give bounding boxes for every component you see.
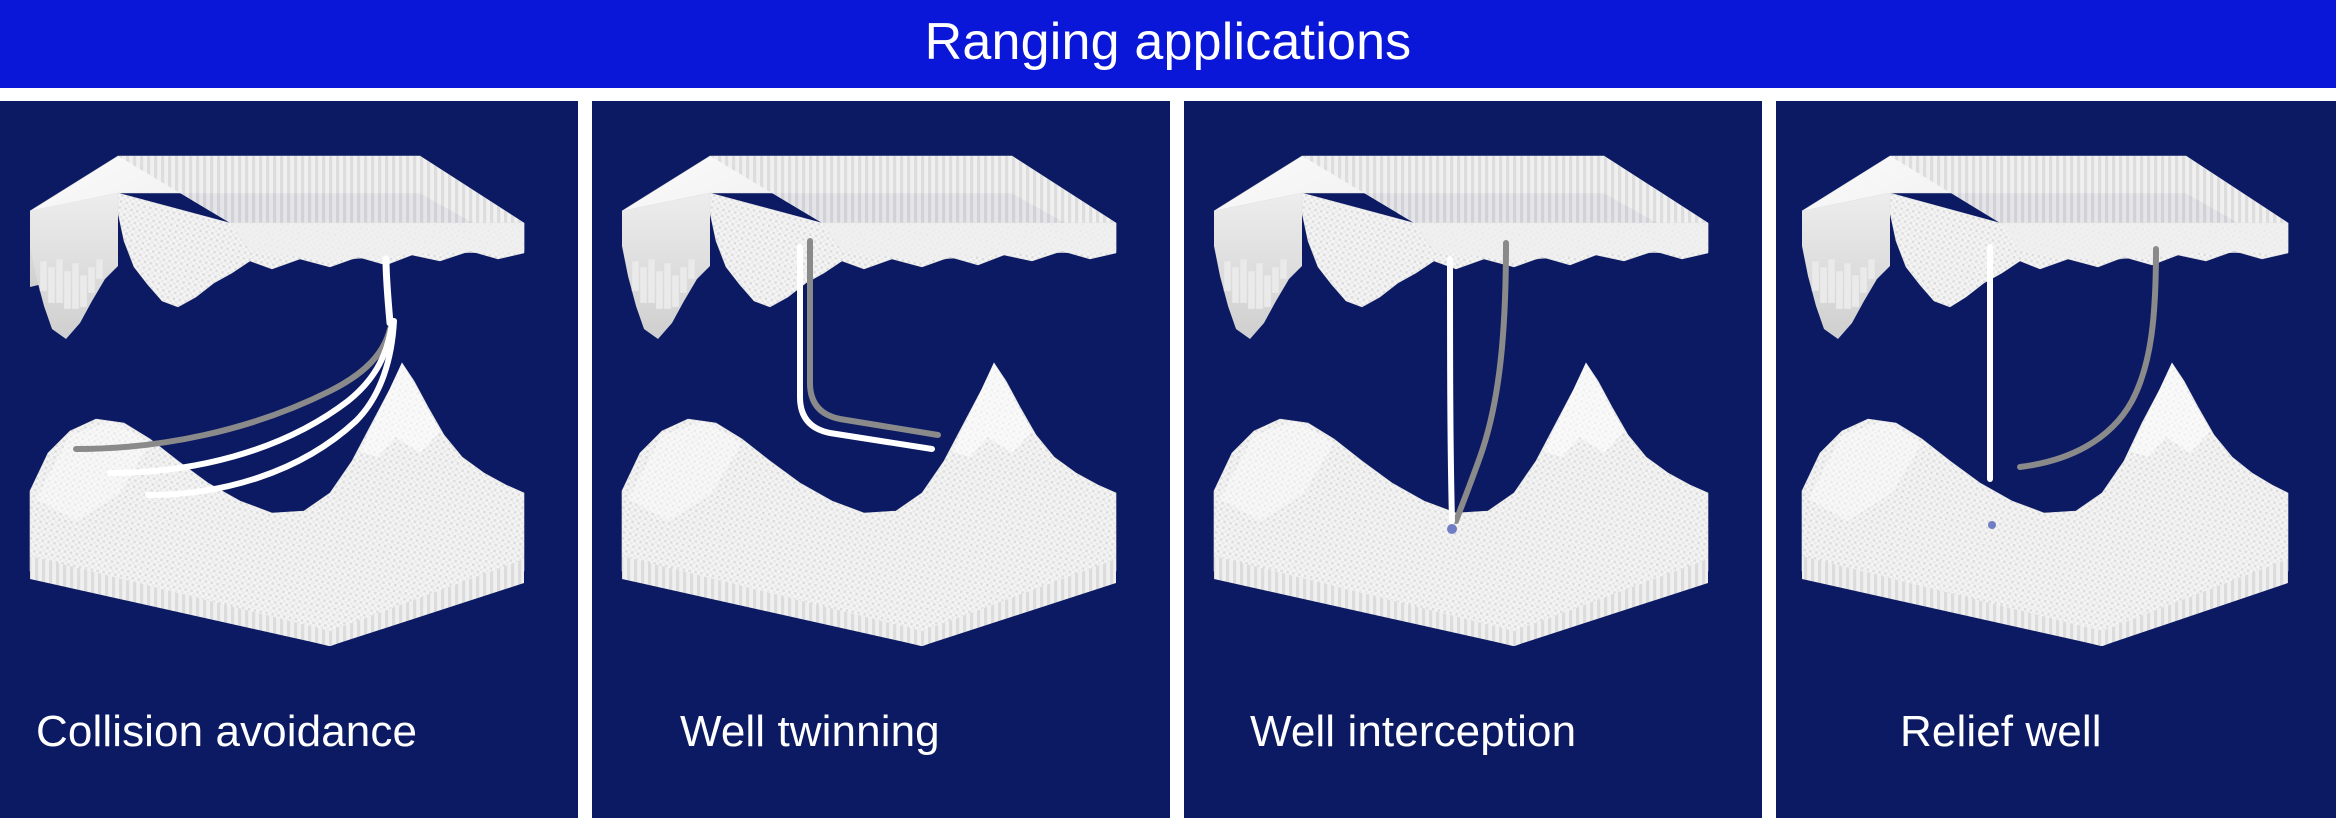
upper-terrain-slab — [30, 156, 524, 339]
twin-well-white — [800, 247, 932, 449]
upper-terrain-slab — [622, 156, 1116, 339]
relief-target-marker — [1988, 521, 1996, 529]
lower-terrain-slab — [30, 363, 524, 646]
terrain-scene-well-twinning — [592, 101, 1170, 646]
terrain-scene-well-interception — [1184, 101, 1762, 646]
panel-caption: Well interception — [1184, 646, 1762, 818]
blowout-well-white — [1450, 259, 1452, 521]
panel-well-interception[interactable]: Well interception — [1184, 101, 1762, 818]
well-trajectories — [1447, 243, 1506, 534]
panel-caption: Well twinning — [592, 646, 1170, 818]
slide-root: Ranging applications — [0, 0, 2336, 818]
panel-caption: Collision avoidance — [0, 646, 578, 818]
panel-strip: Collision avoidance — [0, 101, 2336, 818]
lower-terrain-slab — [622, 363, 1116, 646]
panel-caption: Relief well — [1776, 646, 2336, 818]
relief-well-gray — [2020, 249, 2156, 467]
lower-terrain-slab — [1802, 363, 2288, 646]
offset-well-3 — [386, 259, 390, 323]
upper-terrain-slab — [1802, 156, 2288, 339]
target-well-gray — [810, 241, 938, 435]
panel-relief-well[interactable]: Relief well — [1776, 101, 2336, 818]
intercept-target-marker — [1447, 524, 1457, 534]
intercepting-well-gray — [1456, 243, 1506, 521]
terrain-scene-relief-well — [1776, 101, 2336, 646]
panel-well-twinning[interactable]: Well twinning — [592, 101, 1170, 818]
upper-terrain-slab — [1214, 156, 1708, 339]
header-bar: Ranging applications — [0, 0, 2336, 88]
terrain-scene-collision-avoidance — [0, 101, 578, 646]
panel-collision-avoidance[interactable]: Collision avoidance — [0, 101, 578, 818]
page-title: Ranging applications — [925, 16, 1412, 68]
